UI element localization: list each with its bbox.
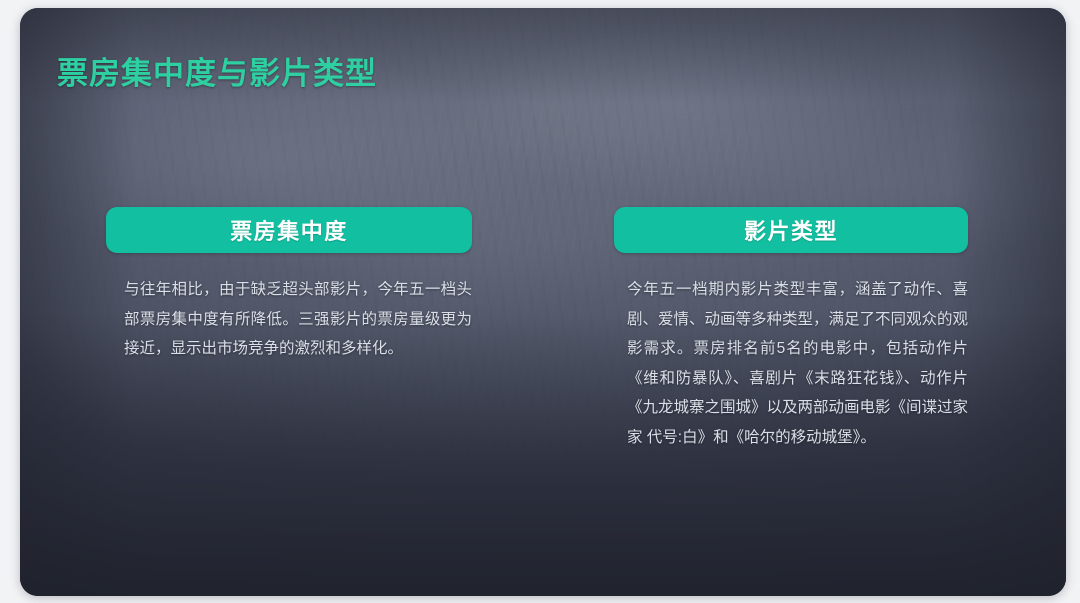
page-title: 票房集中度与影片类型	[57, 48, 377, 93]
section-heading-pill-1: 票房集中度	[106, 207, 472, 253]
slide-content: 票房集中度与影片类型 票房集中度 与往年相比，由于缺乏超头部影片，今年五一档头部…	[20, 8, 1066, 596]
slide-card: 票房集中度与影片类型 票房集中度 与往年相比，由于缺乏超头部影片，今年五一档头部…	[20, 8, 1066, 596]
section-heading-label-2: 影片类型	[744, 214, 838, 246]
section-heading-pill-2: 影片类型	[614, 207, 968, 253]
section-film-genres: 影片类型 今年五一档期内影片类型丰富，涵盖了动作、喜剧、爱情、动画等多种类型，满…	[614, 207, 968, 452]
section-heading-label-1: 票房集中度	[230, 214, 348, 246]
section-body-1: 与往年相比，由于缺乏超头部影片，今年五一档头部票房集中度有所降低。三强影片的票房…	[106, 275, 472, 364]
section-box-office-concentration: 票房集中度 与往年相比，由于缺乏超头部影片，今年五一档头部票房集中度有所降低。三…	[106, 207, 472, 364]
section-body-2: 今年五一档期内影片类型丰富，涵盖了动作、喜剧、爱情、动画等多种类型，满足了不同观…	[614, 275, 968, 452]
